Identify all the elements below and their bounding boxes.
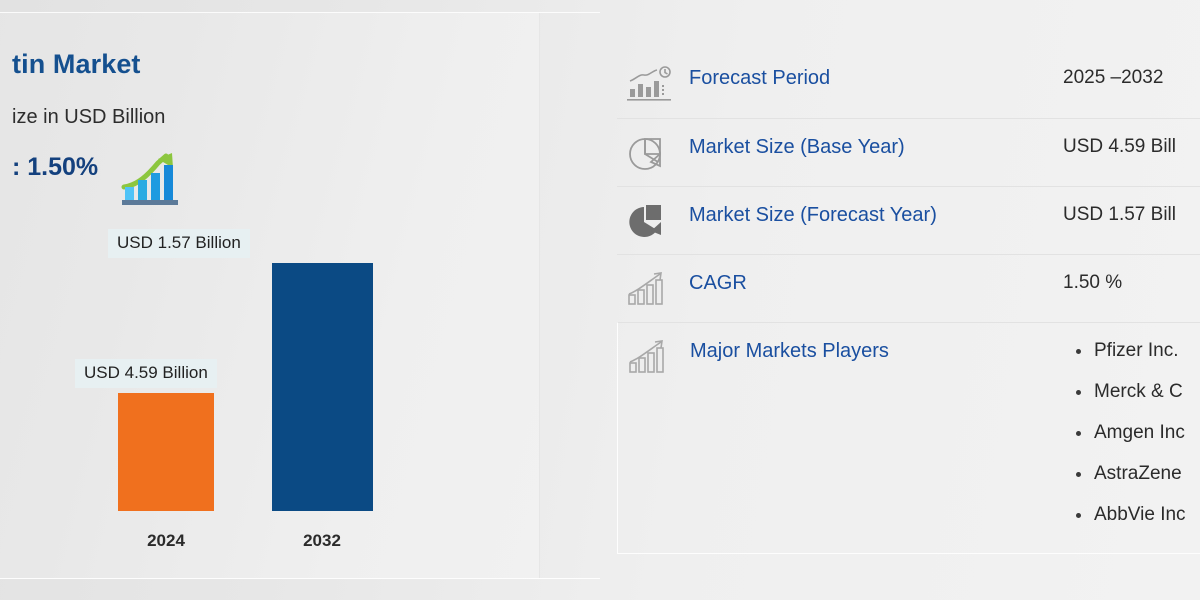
table-row: Forecast Period 2025 –2032	[617, 50, 1200, 118]
bar-2024	[118, 393, 214, 511]
list-item: AbbVie Inc	[1094, 504, 1200, 526]
row-value: 2025 –2032	[1063, 50, 1200, 89]
bar-2032	[272, 263, 373, 511]
row-value: USD 4.59 Bill	[1063, 119, 1200, 158]
forecast-chart-icon	[617, 50, 689, 106]
bar-chart-plot: USD 1.57 Billion 2032 USD 4.59 Billion 2…	[0, 213, 400, 573]
players-list: Pfizer Inc. Merck & C Amgen Inc AstraZen…	[1064, 340, 1200, 526]
row-label: Major Markets Players	[690, 323, 1064, 363]
row-label: Market Size (Base Year)	[689, 119, 1063, 159]
row-label: Market Size (Forecast Year)	[689, 187, 1063, 227]
row-value: 1.50 %	[1063, 255, 1200, 294]
row-label: CAGR	[689, 255, 1063, 295]
table-row: Market Size (Forecast Year) USD 1.57 Bil…	[617, 186, 1200, 254]
chart-title: tin Market	[12, 49, 141, 80]
chart-subtitle: ize in USD Billion	[12, 106, 165, 129]
table-row: Major Markets Players Pfizer Inc. Merck …	[617, 322, 1200, 554]
bar-category-2032: 2032	[262, 531, 382, 551]
chart-panel: tin Market ize in USD Billion : 1.50% US…	[0, 13, 540, 578]
bottom-divider	[0, 578, 600, 579]
row-value: USD 1.57 Bill	[1063, 187, 1200, 226]
bar-value-label: USD 1.57 Billion	[108, 229, 250, 258]
pie-chart-outline-icon	[617, 119, 689, 175]
pie-chart-solid-icon	[617, 187, 689, 243]
growth-bar-arrow-icon	[120, 151, 186, 207]
chart-cagr-text: : 1.50%	[12, 153, 98, 182]
table-row: Market Size (Base Year) USD 4.59 Bill	[617, 118, 1200, 186]
bar-growth-icon	[617, 255, 689, 311]
market-spec-table: Forecast Period 2025 –2032 Market Size (…	[617, 50, 1200, 550]
bar-category-2024: 2024	[106, 531, 226, 551]
list-item: Pfizer Inc.	[1094, 340, 1200, 362]
row-value-players: Pfizer Inc. Merck & C Amgen Inc AstraZen…	[1064, 323, 1200, 545]
table-row: CAGR 1.50 %	[617, 254, 1200, 322]
row-label: Forecast Period	[689, 50, 1063, 90]
bar-growth-icon	[618, 323, 690, 379]
list-item: AstraZene	[1094, 463, 1200, 485]
list-item: Merck & C	[1094, 381, 1200, 403]
list-item: Amgen Inc	[1094, 422, 1200, 444]
bar-value-label: USD 4.59 Billion	[75, 359, 217, 388]
